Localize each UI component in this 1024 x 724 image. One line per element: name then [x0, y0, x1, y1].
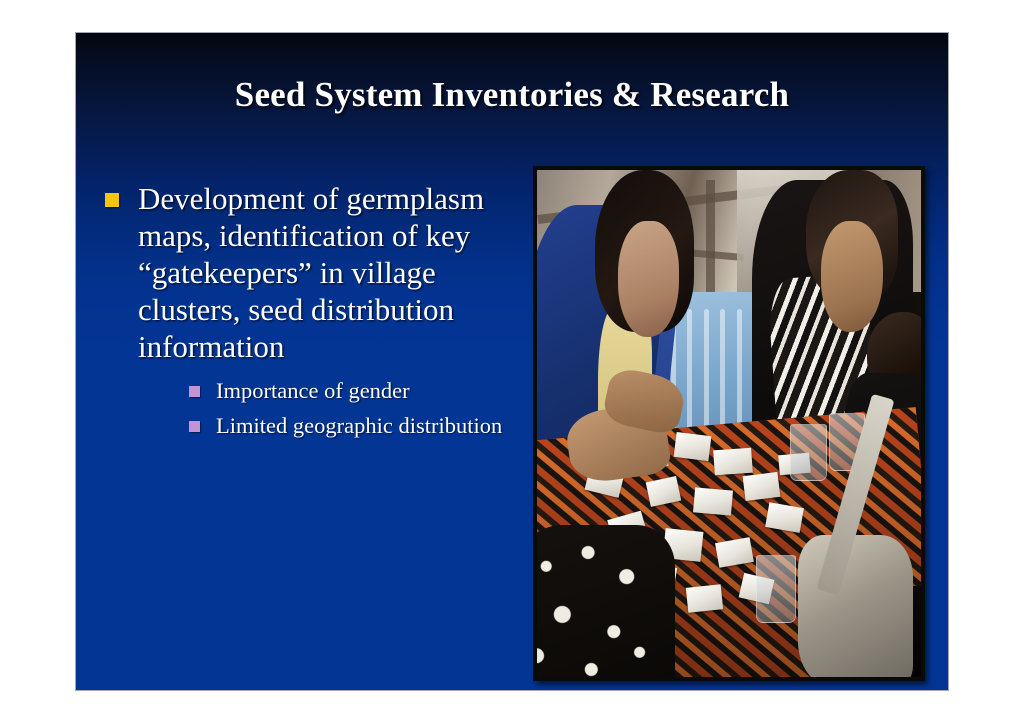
photo-seed-packet: [765, 502, 803, 533]
photo-silver-bag: [798, 535, 913, 677]
slide-title-area: Seed System Inventories & Research: [76, 66, 948, 124]
slide-content: Development of germplasm maps, identific…: [76, 153, 948, 690]
bullet-list-level-1: Development of germplasm maps, identific…: [96, 180, 526, 440]
list-item: Development of germplasm maps, identific…: [96, 180, 526, 440]
list-item: Importance of gender: [187, 377, 526, 405]
photo-roof-post: [706, 180, 715, 292]
photo-foreground-person-patterned-cloth: [537, 525, 675, 677]
gold-square-bullet-icon: [105, 193, 119, 207]
photo-seed-packet: [743, 472, 780, 501]
lavender-square-bullet-icon: [189, 386, 200, 397]
photo-person-right-face: [821, 221, 882, 333]
sub-bullet-text: Limited geographic distribution: [216, 413, 502, 438]
page-title: Seed System Inventories & Research: [235, 75, 789, 115]
photo-seed-packet: [693, 488, 733, 517]
photo-seed-packet: [686, 584, 723, 613]
photo-seed-packet: [674, 432, 711, 461]
sub-bullet-text: Importance of gender: [216, 378, 410, 403]
photo-glass-cup: [756, 555, 796, 623]
bullet-text: Development of germplasm maps, identific…: [138, 181, 484, 364]
slide-photo-frame: [533, 166, 925, 681]
lavender-square-bullet-icon: [189, 421, 200, 432]
list-item: Limited geographic distribution: [187, 412, 526, 440]
bullet-list-column: Development of germplasm maps, identific…: [96, 180, 526, 447]
photo-glass-cup: [790, 424, 827, 482]
bullet-list-level-2: Importance of gender Limited geographic …: [138, 377, 526, 440]
slide-photo: [537, 170, 921, 677]
photo-seed-packet: [713, 448, 753, 476]
page-canvas: Seed System Inventories & Research Devel…: [0, 0, 1024, 724]
presentation-slide: Seed System Inventories & Research Devel…: [76, 33, 948, 690]
photo-person-left-face: [618, 221, 679, 338]
